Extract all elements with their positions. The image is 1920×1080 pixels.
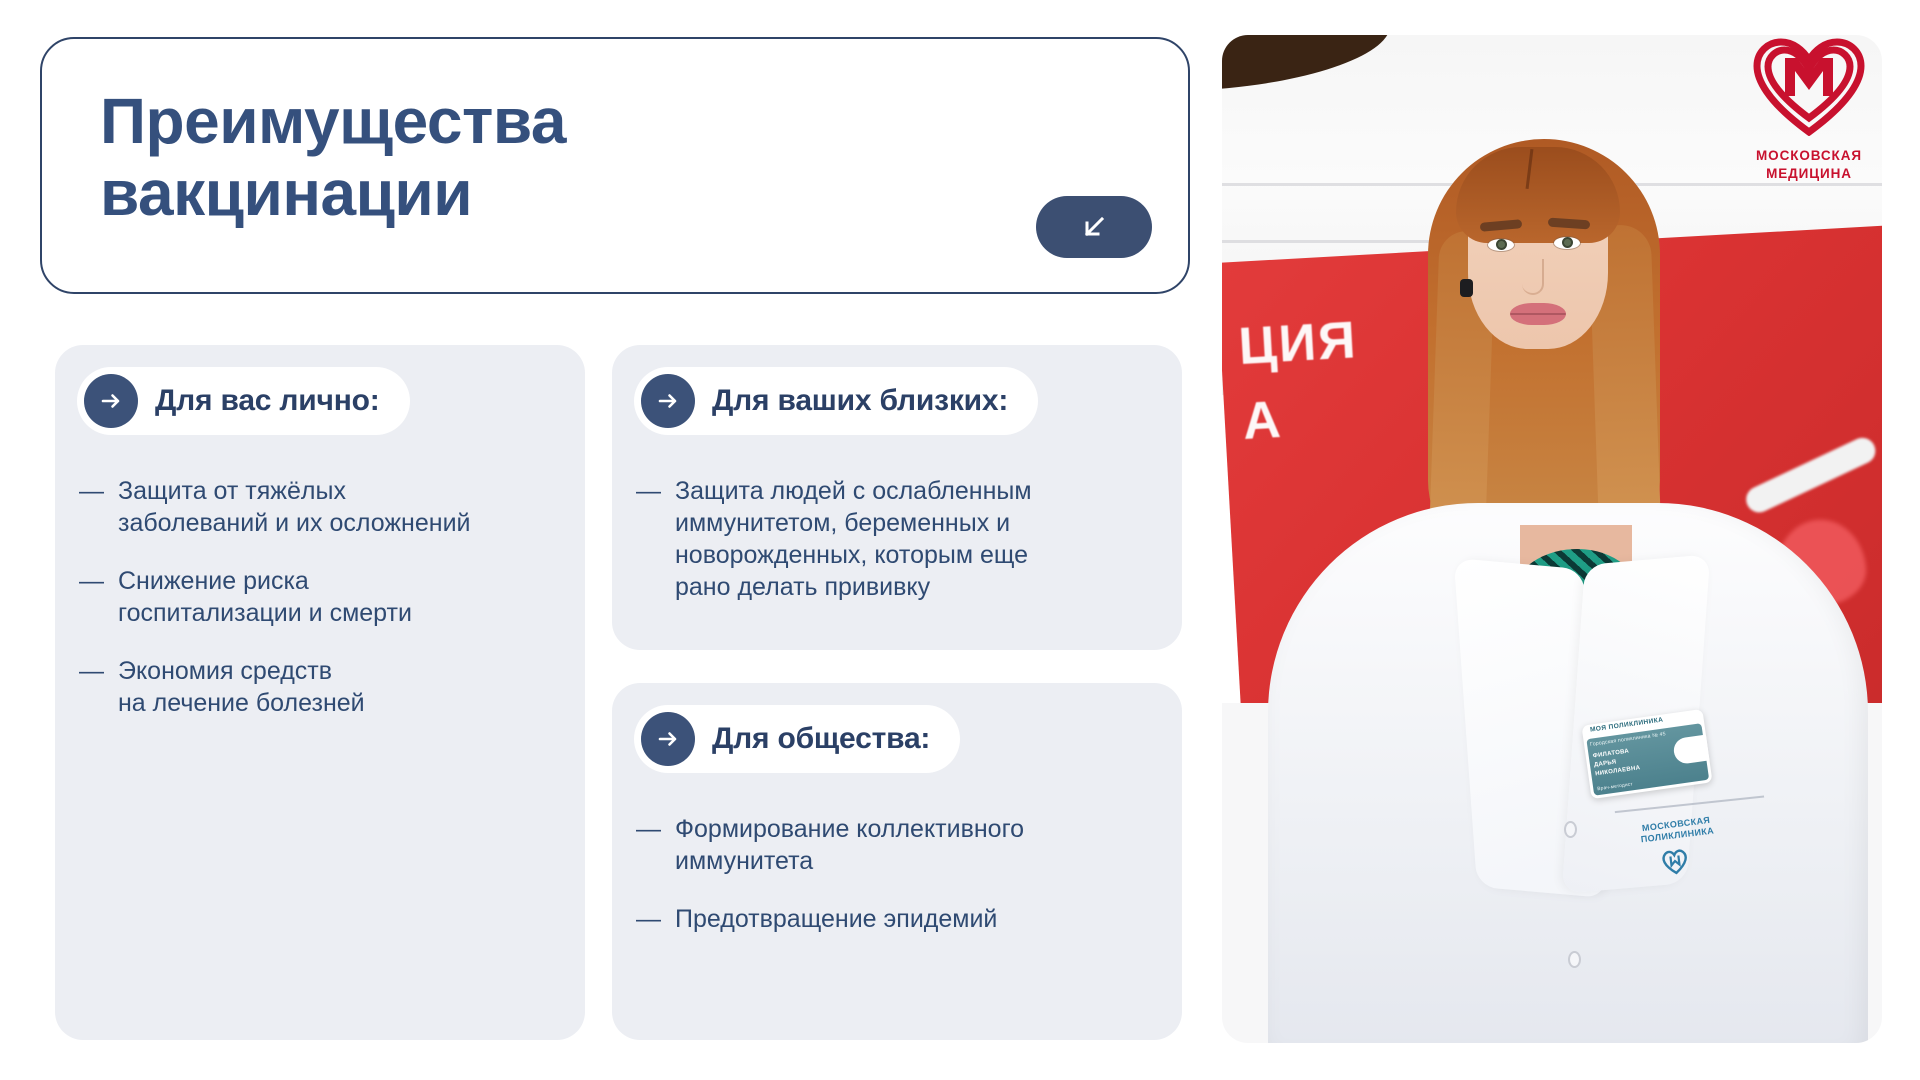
nose [1522,259,1544,295]
bullet-text: Формирование коллективного иммунитета [675,813,1024,877]
card-for-your-loved-ones: Для ваших близких: — Защита людей с осла… [612,345,1182,650]
bullet-text: Снижение риска госпитализации и смерти [118,565,412,629]
logo-text: МОСКОВСКАЯ МЕДИЦИНА [1746,147,1872,182]
card-header-personal: Для вас лично: [77,367,410,435]
bullet-text: Экономия средств на лечение болезней [118,655,365,719]
card-header-label: Для общества: [712,722,930,756]
list-item: — Формирование коллективного иммунитета [636,813,1166,877]
earring [1460,279,1473,297]
bullet-dash: — [79,565,104,629]
white-coat: МОСКОВСКАЯ ПОЛИКЛИНИКА МОЯ ПОЛИКЛИНИКА Г… [1268,503,1868,1043]
card-for-you-personally: Для вас лично: — Защита от тяжёлых забол… [55,345,585,1040]
bullet-list-society: — Формирование коллективного иммунитета … [636,813,1166,935]
bullet-dash: — [79,655,104,719]
heart-m-icon [1746,38,1872,141]
photo-content: ЦИЯ А МОСКОВСКАЯ ПОЛИКЛИНИКА [1222,35,1882,1043]
page-title: Преимущества вакцинации [100,85,566,230]
bullet-text: Защита от тяжёлых заболеваний и их ослож… [118,475,471,539]
bullet-list-family: — Защита людей с ослабленным иммунитетом… [636,475,1166,603]
arrow-right-circle-icon [84,374,138,428]
card-header-family: Для ваших близких: [634,367,1038,435]
arrow-down-left-button[interactable] [1036,196,1152,258]
bullet-dash: — [79,475,104,539]
moscow-medicine-logo: МОСКОВСКАЯ МЕДИЦИНА [1746,38,1872,182]
banner-text: ЦИЯ А [1237,303,1364,460]
title-card: Преимущества вакцинации [40,37,1190,294]
coat-pocket [1615,795,1775,918]
coat-pocket-heart-icon [1658,845,1691,876]
list-item: — Предотвращение эпидемий [636,903,1166,935]
list-item: — Защита от тяжёлых заболеваний и их осл… [79,475,569,539]
coat-button [1568,951,1581,968]
bullet-dash: — [636,475,661,603]
arrow-down-left-icon [1077,210,1111,244]
list-item: — Снижение риска госпитализации и смерти [79,565,569,629]
lip-line [1510,313,1566,315]
list-item: — Защита людей с ослабленным иммунитетом… [636,475,1166,603]
bullet-list-personal: — Защита от тяжёлых заболеваний и их осл… [79,475,569,719]
bullet-dash: — [636,903,661,935]
pupil-right [1562,237,1573,248]
thermometer-graphic [1742,434,1880,517]
card-header-label: Для вас лично: [155,384,380,418]
bullet-dash: — [636,813,661,877]
list-item: — Экономия средств на лечение болезней [79,655,569,719]
card-header-society: Для общества: [634,705,960,773]
bullet-text: Предотвращение эпидемий [675,903,997,935]
pupil-left [1496,239,1507,250]
arrow-right-circle-icon [641,712,695,766]
doctor-photo: ЦИЯ А МОСКОВСКАЯ ПОЛИКЛИНИКА [1222,35,1882,1043]
card-for-society: Для общества: — Формирование коллективно… [612,683,1182,1040]
bullet-text: Защита людей с ослабленным иммунитетом, … [675,475,1032,603]
coat-button [1564,821,1577,838]
card-header-label: Для ваших близких: [712,384,1008,418]
arrow-right-circle-icon [641,374,695,428]
